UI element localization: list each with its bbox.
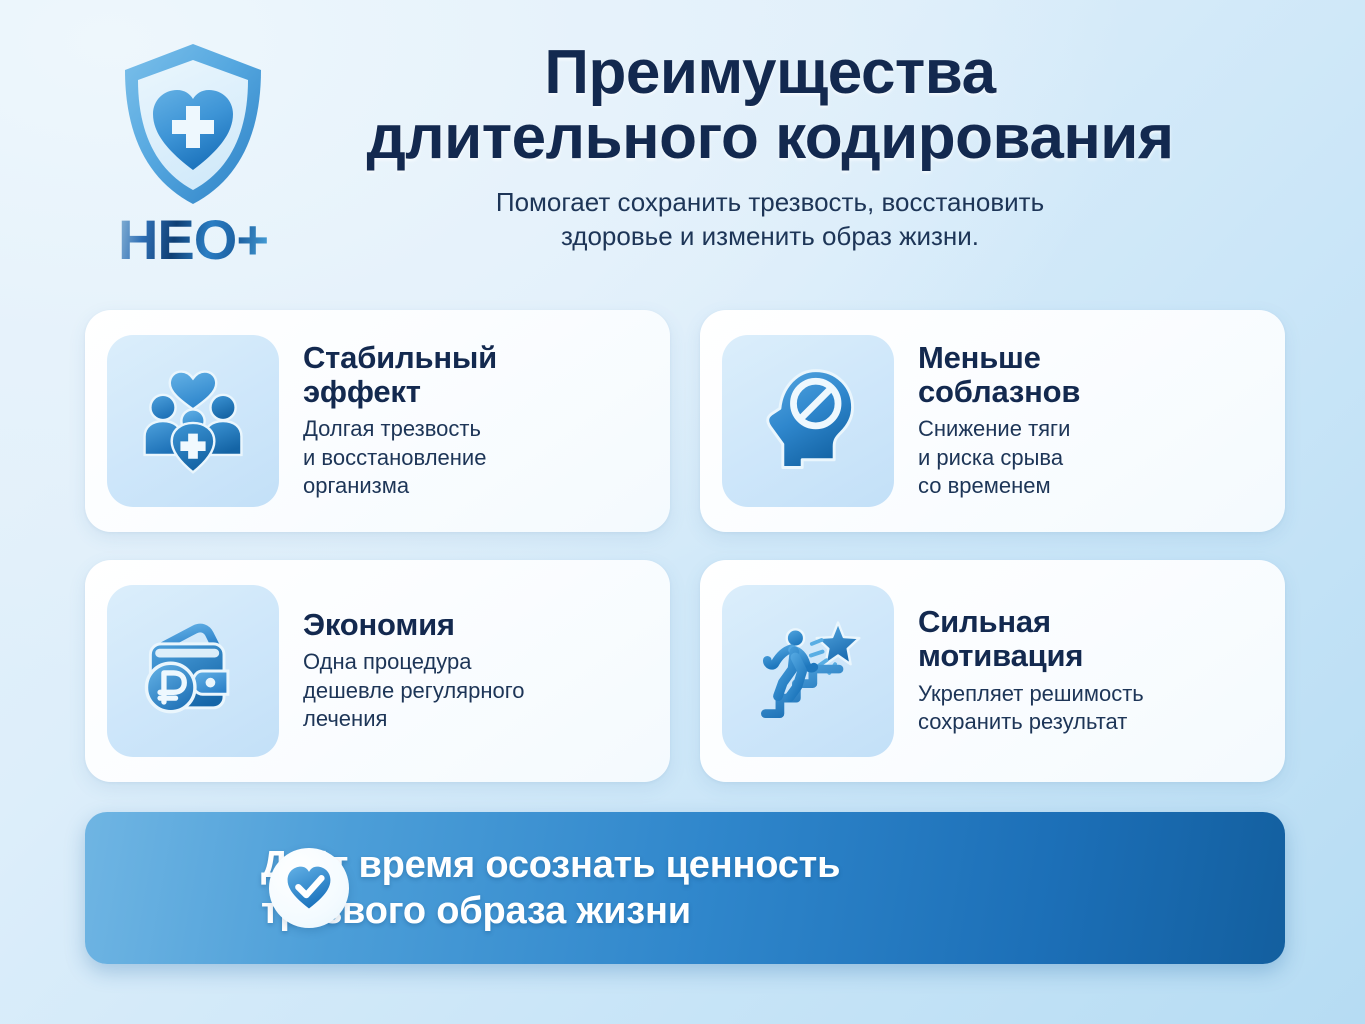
family-heart-plus-icon [107,335,279,507]
benefit-card-title-line-1: Экономия [303,608,524,642]
benefit-card-text: Сильная мотивация Укрепляет решимость со… [894,605,1150,736]
title-block: Преимущества длительного кодирования Пом… [265,40,1275,254]
page-title-line-1: Преимущества [265,40,1275,105]
benefit-card-title: Стабильный эффект [303,341,497,409]
benefit-card-text: Меньше соблазнов Снижение тяги и риска с… [894,341,1086,501]
page-title-line-2: длительного кодирования [265,105,1275,170]
benefit-card-savings[interactable]: Экономия Одна процедура дешевле регулярн… [85,560,670,782]
benefit-card-desc-line-1: Долгая трезвость [303,415,497,444]
benefit-card-desc-line-2: сохранить результат [918,708,1144,737]
benefit-card-desc-line-3: лечения [303,705,524,734]
brand-wordmark: НЕО+ [118,212,268,268]
wallet-ruble-icon [107,585,279,757]
benefit-card-description: Укрепляет решимость сохранить результат [918,680,1144,737]
heart-check-circle-icon [269,848,349,928]
benefit-card-description: Снижение тяги и риска срыва со временем [918,415,1080,501]
benefit-card-title-line-1: Сильная [918,605,1144,639]
benefit-card-title-line-1: Стабильный [303,341,497,375]
benefit-card-text: Стабильный эффект Долгая трезвость и вос… [279,341,503,501]
benefit-card-desc-line-2: и риска срыва [918,444,1080,473]
benefit-card-grid: Стабильный эффект Долгая трезвость и вос… [85,310,1285,782]
benefit-card-text: Экономия Одна процедура дешевле регулярн… [279,608,530,734]
page-subtitle: Помогает сохранить трезвость, восстанови… [390,186,1150,254]
page-subtitle-line-2: здоровье и изменить образ жизни. [390,220,1150,254]
benefit-card-title: Экономия [303,608,524,642]
benefit-card-desc-line-1: Снижение тяги [918,415,1080,444]
stairs-star-runner-icon [722,585,894,757]
head-prohibition-icon [722,335,894,507]
benefit-card-desc-line-3: организма [303,472,497,501]
page-subtitle-line-1: Помогает сохранить трезвость, восстанови… [390,186,1150,220]
poster-header: НЕО+ Преимущества длительного кодировани… [0,0,1365,300]
benefit-card-title-line-2: мотивация [918,639,1144,673]
benefit-card-desc-line-1: Укрепляет решимость [918,680,1144,709]
benefit-card-title-line-1: Меньше [918,341,1080,375]
benefit-card-title-line-2: соблазнов [918,375,1080,409]
benefit-card-stable-effect[interactable]: Стабильный эффект Долгая трезвость и вос… [85,310,670,532]
benefit-card-title: Меньше соблазнов [918,341,1080,409]
shield-heart-plus-icon [117,38,269,210]
benefit-card-desc-line-3: со временем [918,472,1080,501]
benefit-card-description: Долгая трезвость и восстановление органи… [303,415,497,501]
benefit-card-strong-motivation[interactable]: Сильная мотивация Укрепляет решимость со… [700,560,1285,782]
page-title: Преимущества длительного кодирования [265,40,1275,170]
benefit-card-title-line-2: эффект [303,375,497,409]
footer-banner[interactable]: Даёт время осознать ценность трезвого об… [85,812,1285,964]
benefit-card-desc-line-1: Одна процедура [303,648,524,677]
benefit-card-fewer-temptations[interactable]: Меньше соблазнов Снижение тяги и риска с… [700,310,1285,532]
benefit-card-description: Одна процедура дешевле регулярного лечен… [303,648,524,734]
benefit-card-desc-line-2: и восстановление [303,444,497,473]
benefit-card-desc-line-2: дешевле регулярного [303,677,524,706]
infographic-poster: НЕО+ Преимущества длительного кодировани… [0,0,1365,1024]
benefit-card-title: Сильная мотивация [918,605,1144,673]
